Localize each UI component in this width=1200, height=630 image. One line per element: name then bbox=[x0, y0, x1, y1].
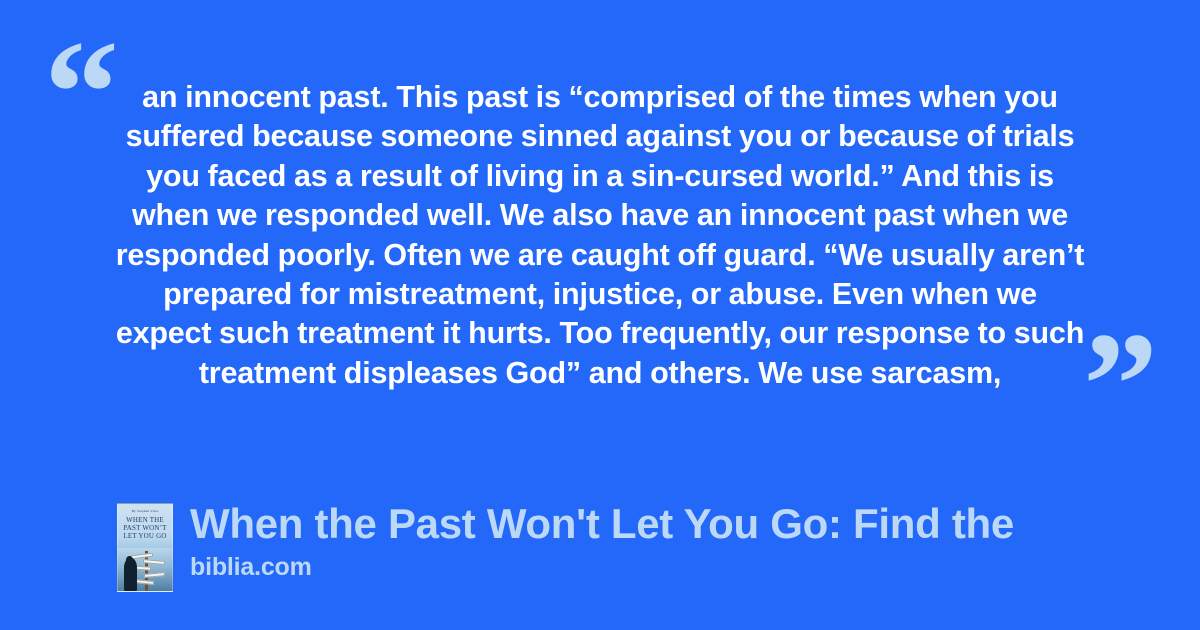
book-title: When the Past Won't Let You Go: Find the bbox=[190, 501, 1014, 547]
footer: By Stephen Viars WHEN THE PAST WON’T LET… bbox=[117, 503, 1014, 592]
closing-quote-icon: ” bbox=[1083, 310, 1158, 460]
cover-title: WHEN THE PAST WON’T LET YOU GO bbox=[120, 516, 170, 541]
cover-title-line-3: LET YOU GO bbox=[120, 532, 170, 540]
cover-title-line-1: WHEN THE bbox=[120, 516, 170, 524]
opening-quote-icon: “ bbox=[44, 18, 119, 168]
quote-card: “ an innocent past. This past is “compri… bbox=[0, 0, 1200, 630]
book-cover-thumbnail: By Stephen Viars WHEN THE PAST WON’T LET… bbox=[117, 503, 173, 592]
footer-text: When the Past Won't Let You Go: Find the… bbox=[190, 503, 1014, 582]
cover-author: By Stephen Viars bbox=[118, 509, 172, 513]
cover-figure bbox=[124, 558, 137, 591]
site-name: biblia.com bbox=[190, 552, 1014, 582]
quote-text: an innocent past. This past is “comprise… bbox=[112, 78, 1088, 393]
cover-title-line-2: PAST WON’T bbox=[120, 524, 170, 532]
